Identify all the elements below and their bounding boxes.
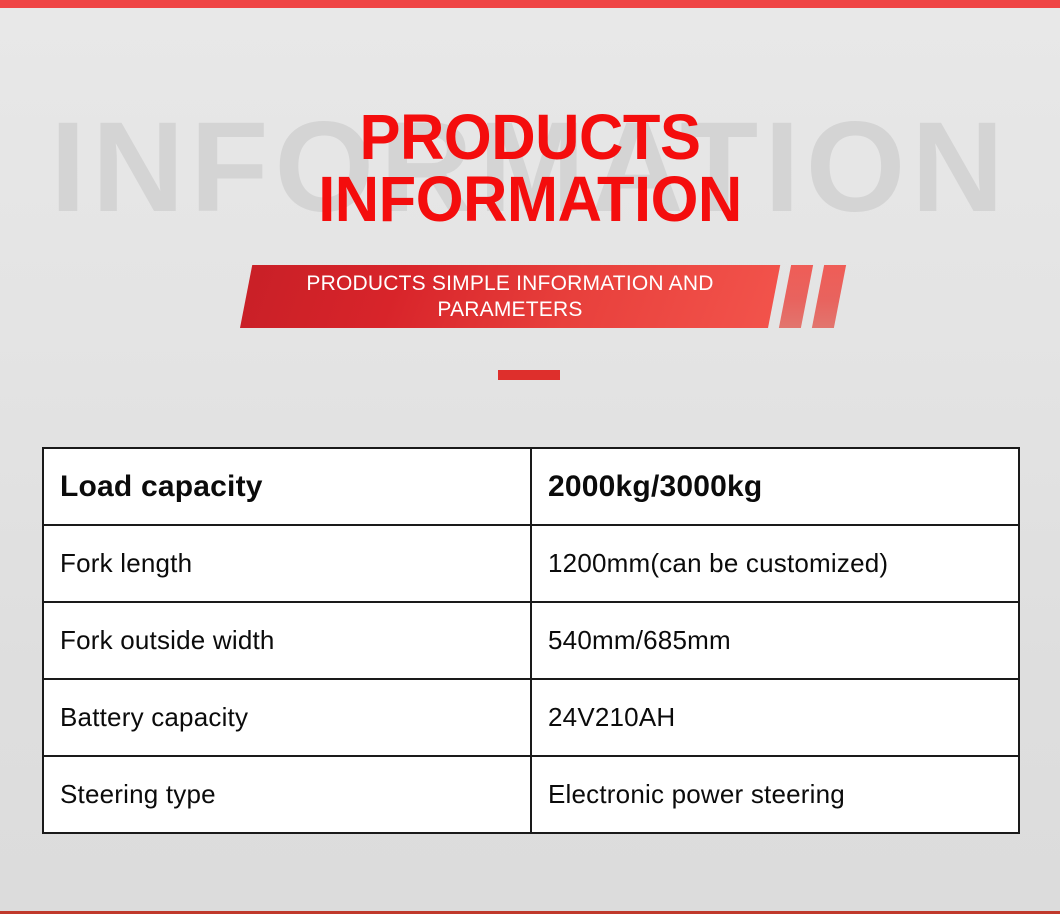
page-title-line-1: PRODUCTS xyxy=(21,106,1039,168)
spec-key: Load capacity xyxy=(43,448,531,525)
page-title: PRODUCTS INFORMATION xyxy=(0,106,1060,230)
spec-value: 24V210AH xyxy=(531,679,1019,756)
ribbon-accent-bar-2 xyxy=(812,265,846,328)
table-row: Battery capacity 24V210AH xyxy=(43,679,1019,756)
table-row: Steering type Electronic power steering xyxy=(43,756,1019,833)
ribbon-accent-bar-1 xyxy=(779,265,813,328)
specifications-table-body: Load capacity 2000kg/3000kg Fork length … xyxy=(43,448,1019,833)
specifications-table: Load capacity 2000kg/3000kg Fork length … xyxy=(42,447,1020,834)
top-red-rule xyxy=(0,0,1060,8)
spec-key: Fork length xyxy=(43,525,531,602)
spec-value: 1200mm(can be customized) xyxy=(531,525,1019,602)
products-information-page: INFORMATION PRODUCTS INFORMATION PRODUCT… xyxy=(0,0,1060,914)
spec-key: Fork outside width xyxy=(43,602,531,679)
table-row: Fork length 1200mm(can be customized) xyxy=(43,525,1019,602)
spec-key: Battery capacity xyxy=(43,679,531,756)
table-row: Fork outside width 540mm/685mm xyxy=(43,602,1019,679)
section-divider-dash xyxy=(498,370,560,380)
table-row: Load capacity 2000kg/3000kg xyxy=(43,448,1019,525)
ribbon-subtitle-label: PRODUCTS SIMPLE INFORMATION AND PARAMETE… xyxy=(250,265,770,328)
subtitle-ribbon: PRODUCTS SIMPLE INFORMATION AND PARAMETE… xyxy=(240,265,840,328)
spec-value: 2000kg/3000kg xyxy=(531,448,1019,525)
page-title-line-2: INFORMATION xyxy=(21,168,1039,230)
spec-key: Steering type xyxy=(43,756,531,833)
spec-value: 540mm/685mm xyxy=(531,602,1019,679)
spec-value: Electronic power steering xyxy=(531,756,1019,833)
